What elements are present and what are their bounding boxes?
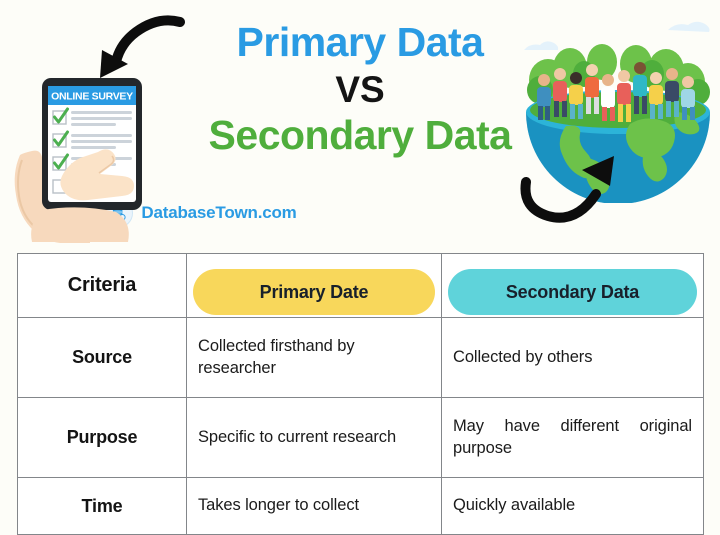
header-cell-primary: Primary Date xyxy=(187,254,442,318)
primary-vs-secondary-data-table: Criteria Primary Date Secondary Data Sou… xyxy=(17,253,704,535)
title-secondary-data: Secondary Data xyxy=(160,114,560,157)
header-label-criteria: Criteria xyxy=(18,274,186,297)
cell-time-primary: Takes longer to collect xyxy=(187,478,442,535)
table-row: Time Takes longer to collect Quickly ava… xyxy=(18,478,704,535)
cell-purpose-primary: Specific to current research xyxy=(187,398,442,478)
curved-arrow-down-left-icon xyxy=(92,14,187,84)
table-row: Source Collected firsthand by researcher… xyxy=(18,318,704,398)
online-survey-tablet-illustration: ONLINE SURVEY xyxy=(2,60,172,245)
cell-time-secondary: Quickly available xyxy=(442,478,704,535)
curved-arrow-up-right-icon xyxy=(520,148,630,226)
title-primary-data: Primary Data xyxy=(160,22,560,64)
row-header-time: Time xyxy=(18,478,187,535)
cell-purpose-secondary: May have different original purpose xyxy=(442,398,704,478)
row-header-source: Source xyxy=(18,318,187,398)
pill-primary-data: Primary Date xyxy=(193,269,435,315)
pill-secondary-data: Secondary Data xyxy=(448,269,697,315)
cell-source-secondary: Collected by others xyxy=(442,318,704,398)
cell-source-primary: Collected firsthand by researcher xyxy=(187,318,442,398)
table-row: Purpose Specific to current research May… xyxy=(18,398,704,478)
hero-banner: ONLINE SURVEY xyxy=(0,0,720,250)
row-header-purpose: Purpose xyxy=(18,398,187,478)
svg-text:ONLINE SURVEY: ONLINE SURVEY xyxy=(51,91,133,103)
header-cell-criteria: Criteria xyxy=(18,254,187,318)
table-header-row: Criteria Primary Date Secondary Data xyxy=(18,254,704,318)
comparison-table-wrapper: Criteria Primary Date Secondary Data Sou… xyxy=(17,253,703,535)
header-cell-secondary: Secondary Data xyxy=(442,254,704,318)
page-title: Primary Data VS Secondary Data xyxy=(160,22,560,157)
title-vs: VS xyxy=(160,66,560,114)
